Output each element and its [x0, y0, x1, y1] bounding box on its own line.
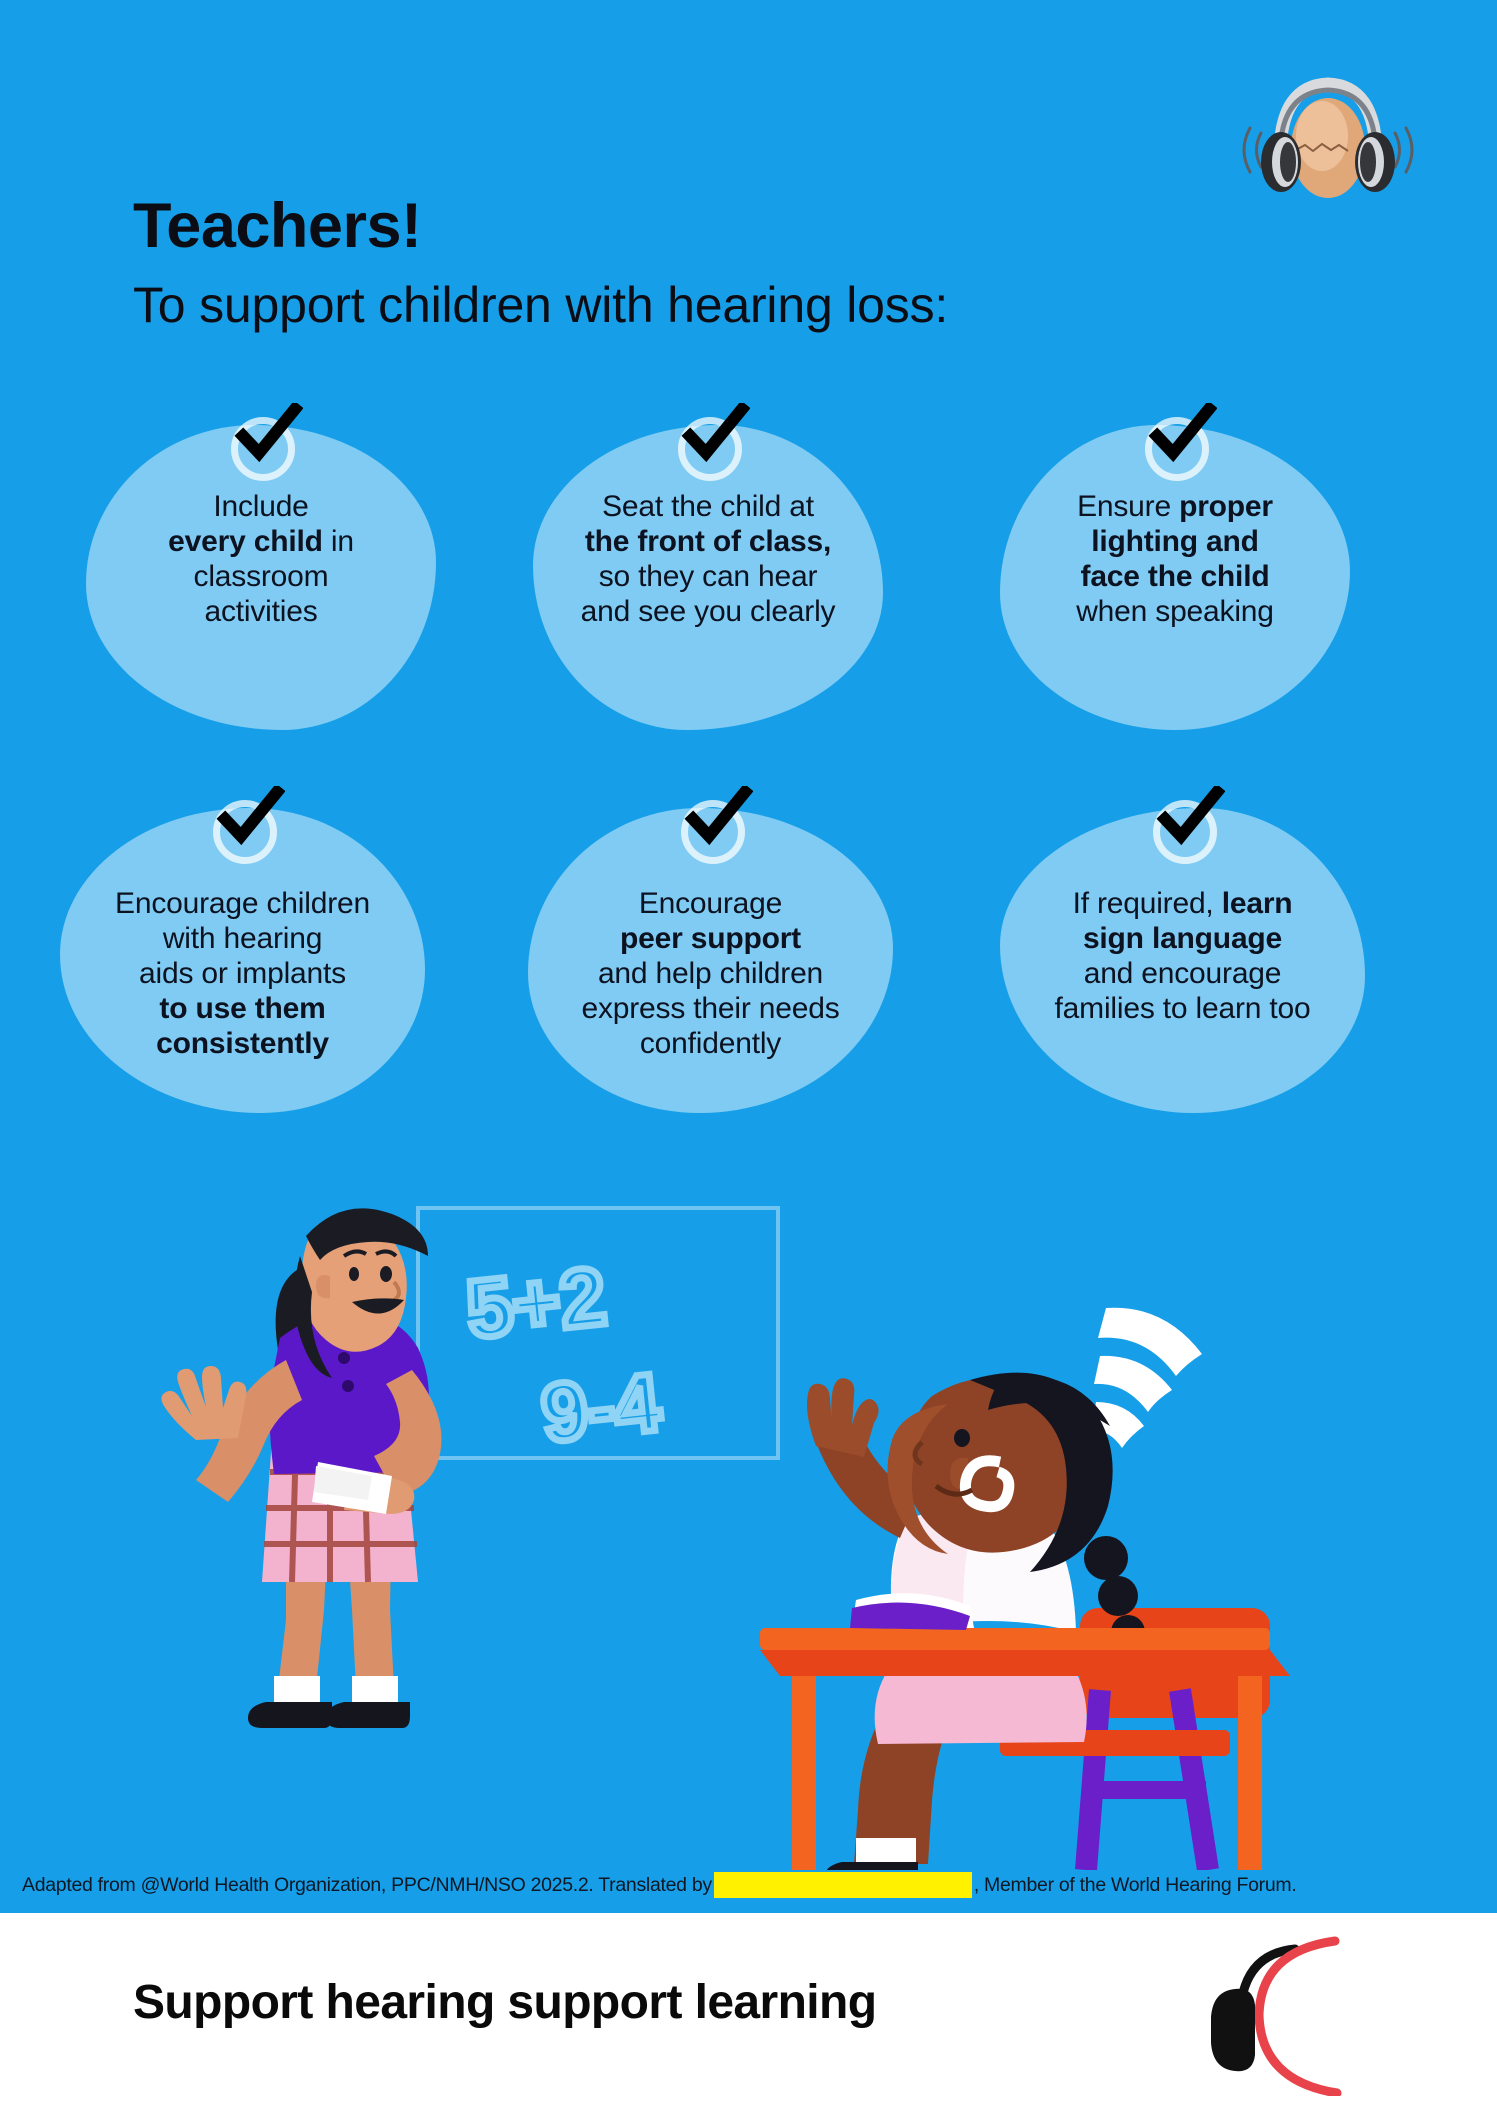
credit-before: Adapted from @World Health Organization,…	[22, 1874, 712, 1897]
svg-text:9-4: 9-4	[537, 1357, 665, 1460]
tips-grid: Includeevery child inclassroomactivities…	[0, 425, 1497, 1125]
tip-bubble-5[interactable]: Encouragepeer supportand help childrenex…	[528, 808, 893, 1113]
footer-tagline: Support hearing support learning	[133, 1975, 876, 2030]
credit-line: Adapted from @World Health Organization,…	[0, 1860, 1497, 1910]
checkmark-icon	[672, 407, 744, 479]
tip-text: If required, learnsign languageand encou…	[1049, 886, 1317, 1026]
svg-text:5+2: 5+2	[462, 1251, 610, 1356]
world-hearing-forum-logo: WORLD HEARING FORUM	[1195, 1931, 1455, 2096]
sound-wave-icon	[1092, 1308, 1202, 1448]
poster-root: Teachers! To support children with heari…	[0, 0, 1497, 2117]
tip-bubble-2[interactable]: Seat the child atthe front of class,so t…	[533, 425, 883, 730]
tip-bubble-3[interactable]: Ensure properlighting andface the childw…	[1000, 425, 1350, 730]
tip-text: Ensure properlighting andface the childw…	[1070, 489, 1280, 629]
whiteboard: 5+2 9-4	[418, 1208, 778, 1460]
tip-bubble-6[interactable]: If required, learnsign languageand encou…	[1000, 808, 1365, 1113]
footer-bar: Support hearing support learning WORLD H…	[0, 1913, 1497, 2117]
classroom-illustration: 5+2 9-4	[0, 1190, 1497, 1870]
tip-bubble-4[interactable]: Encourage childrenwith hearingaids or im…	[60, 808, 425, 1113]
teacher-illustration	[161, 1208, 441, 1728]
translator-blank-field[interactable]	[714, 1872, 972, 1898]
student-illustration	[760, 1373, 1290, 1870]
credit-after: , Member of the World Hearing Forum.	[974, 1874, 1297, 1897]
headline-block: Teachers! To support children with heari…	[133, 195, 1333, 330]
checkmark-icon	[225, 407, 297, 479]
tip-text: Includeevery child inclassroomactivities	[162, 489, 360, 629]
page-subtitle: To support children with hearing loss:	[133, 280, 1333, 330]
tip-bubble-1[interactable]: Includeevery child inclassroomactivities	[86, 425, 436, 730]
main-blue-panel: Teachers! To support children with heari…	[0, 0, 1497, 1913]
tip-text: Encouragepeer supportand help childrenex…	[575, 886, 845, 1061]
tip-text: Seat the child atthe front of class,so t…	[575, 489, 842, 629]
checkmark-icon	[207, 790, 279, 862]
page-title: Teachers!	[133, 195, 1333, 258]
egg-with-headphones-icon	[1228, 70, 1428, 210]
tip-text: Encourage childrenwith hearingaids or im…	[109, 886, 376, 1061]
checkmark-icon	[675, 790, 747, 862]
checkmark-icon	[1139, 407, 1211, 479]
checkmark-icon	[1147, 790, 1219, 862]
